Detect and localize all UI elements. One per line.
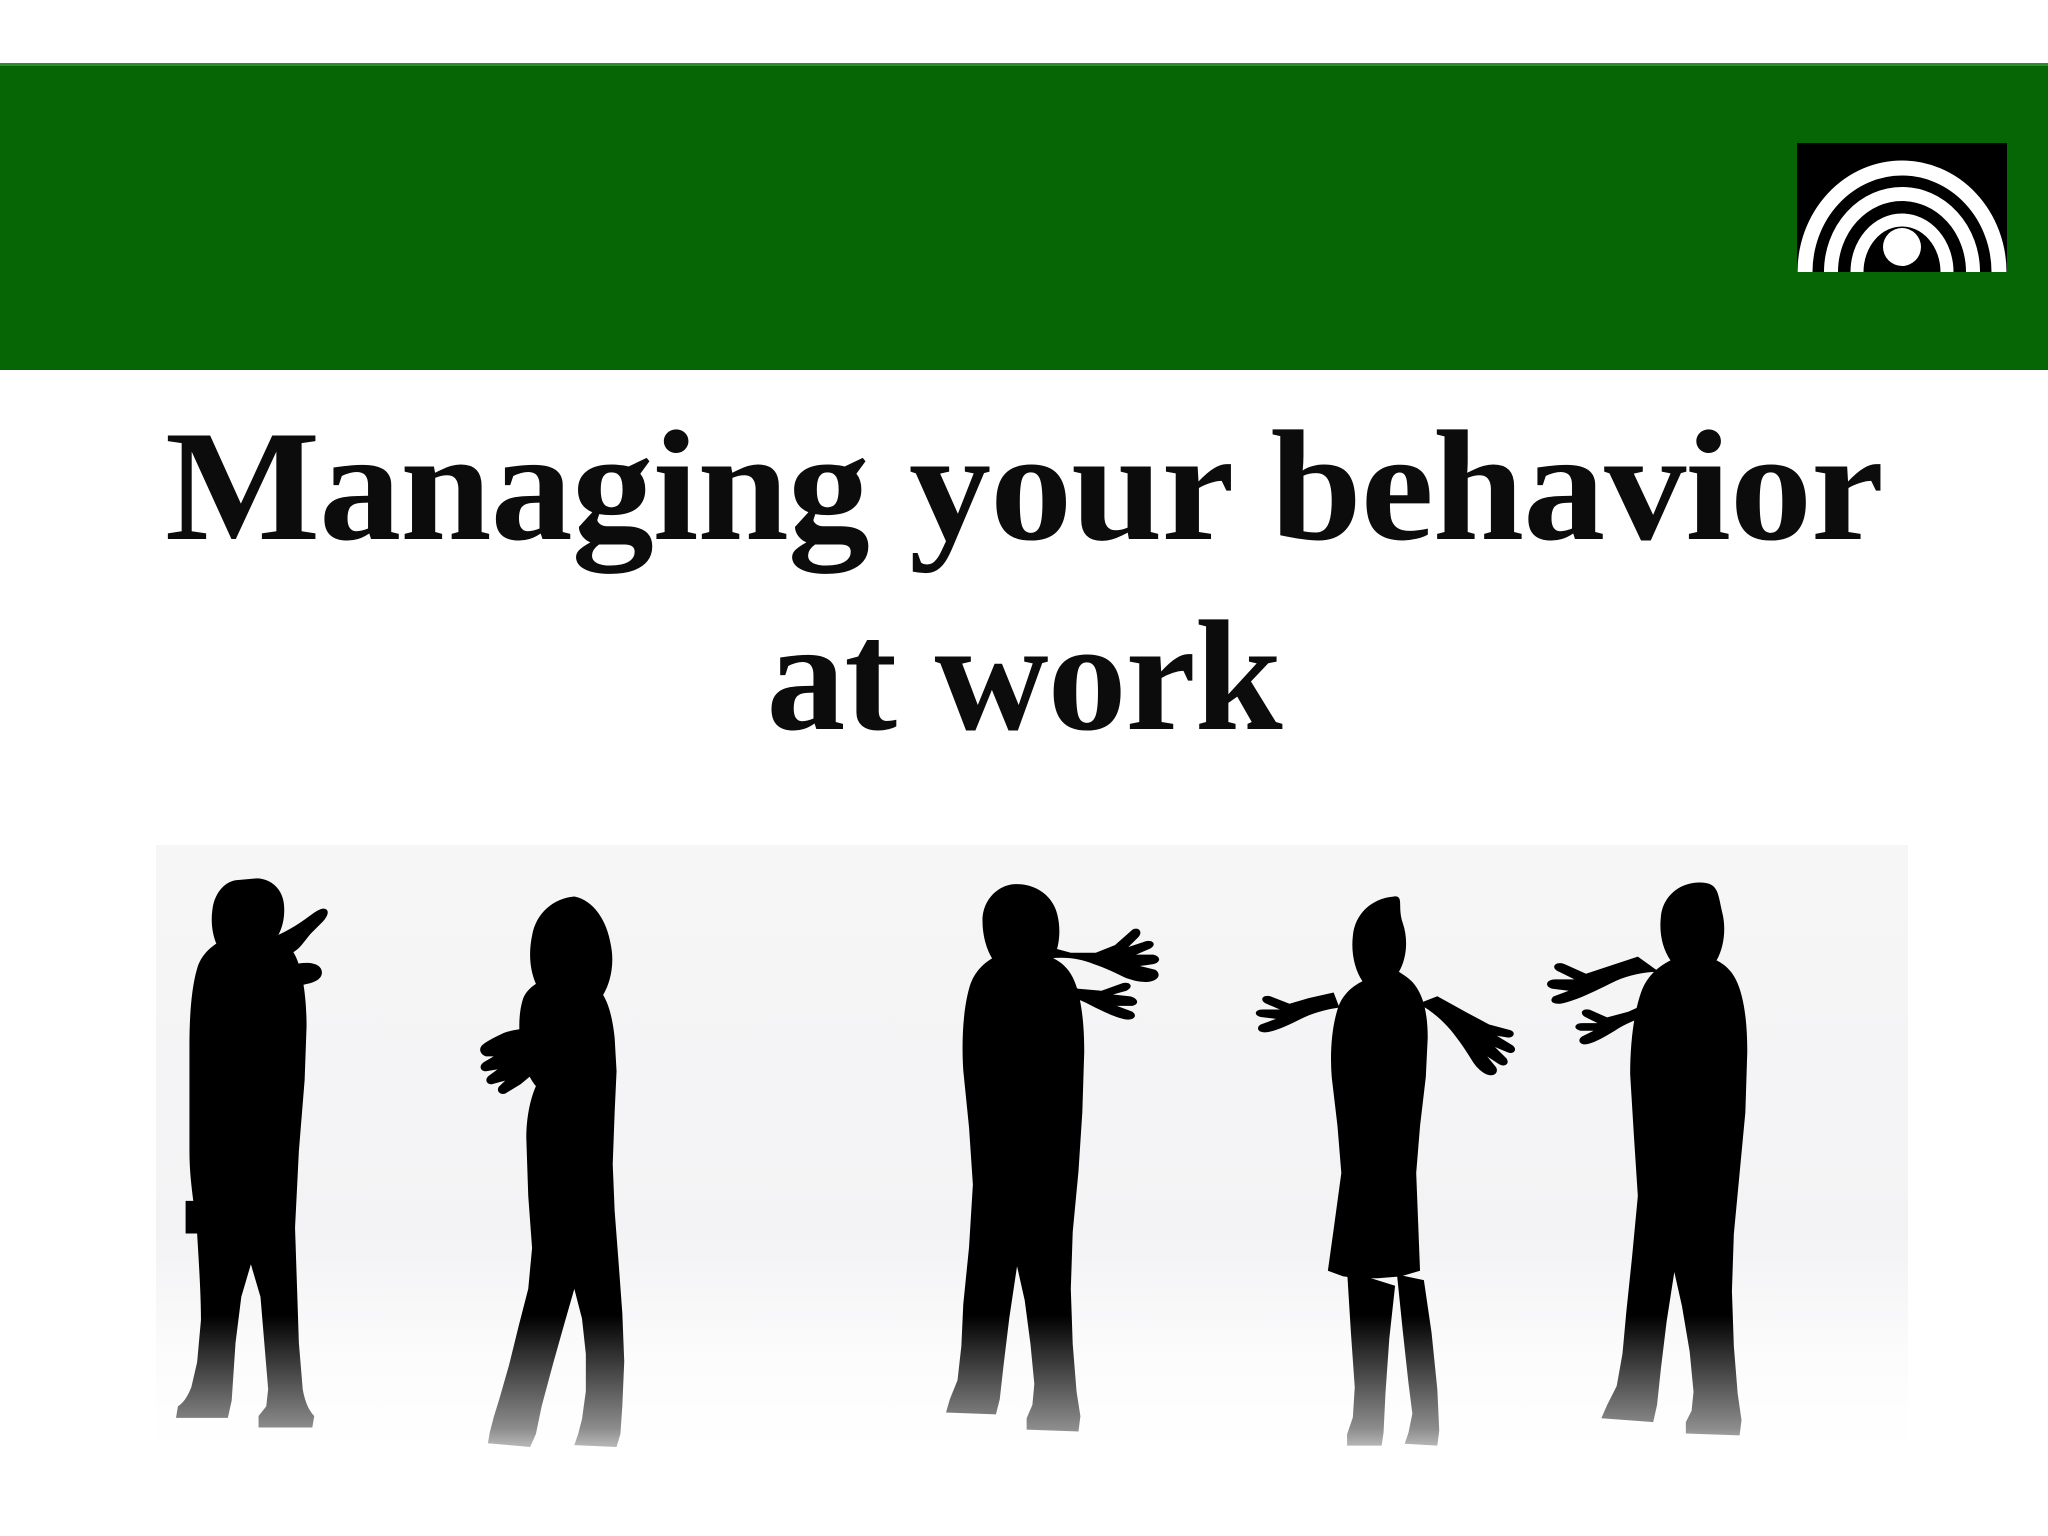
page-title: Managing your behavior at work: [0, 392, 2048, 772]
business-people-silhouettes: [156, 845, 1908, 1477]
header-band: [0, 63, 2048, 370]
broadcast-arcs-logo: [1797, 143, 2007, 272]
title-line-2: at work: [0, 582, 2048, 772]
title-line-1: Managing your behavior: [0, 392, 2048, 582]
slide: Managing your behavior at work: [0, 0, 2048, 1536]
